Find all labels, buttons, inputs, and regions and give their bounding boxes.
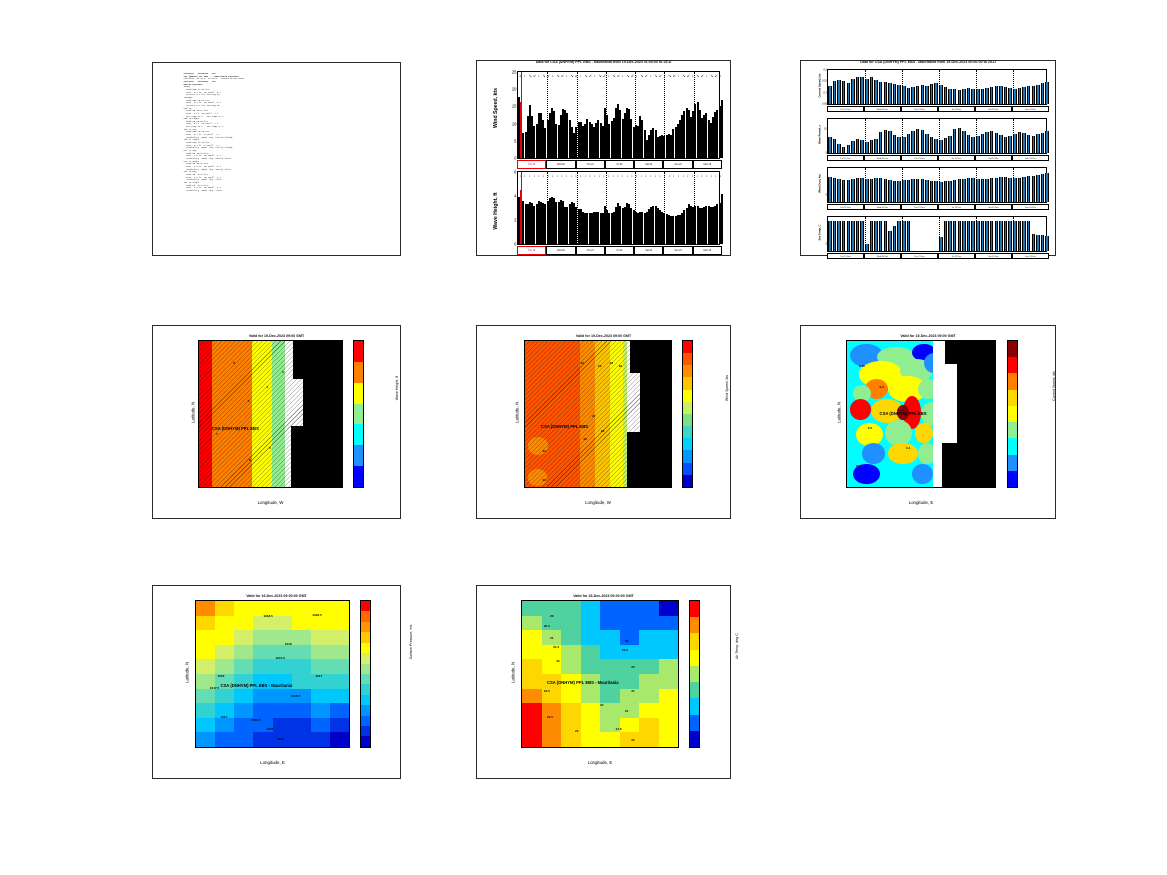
- pressure-cell: [292, 732, 312, 747]
- temp-cell: [522, 718, 542, 733]
- isotherm-label: 22: [631, 738, 634, 742]
- isobar-label: 1017.5: [210, 686, 219, 690]
- bar: [879, 132, 883, 153]
- bar: [1041, 235, 1045, 251]
- wind-direction-arrow: ↓: [677, 72, 679, 79]
- report-line: Visibility Good Sky Clear: [181, 190, 392, 193]
- wind-direction-arrow: ↓: [538, 72, 540, 79]
- wind-direction-arrow-row: ↙↓↘↙↓↘↙↓↘↙↓↘↙↓↘↙↓↘↙↓↘↙↓↘↙↓↘↙↓↘↙↓↘↙↓↘↙↓↘↙…: [518, 72, 719, 79]
- isotherm-label: 19.5: [622, 648, 628, 652]
- bar: [870, 140, 874, 153]
- temp-cell: [581, 659, 601, 674]
- temp-cell: [561, 703, 581, 718]
- temp-cell: [639, 630, 659, 645]
- pressure-cell: [292, 645, 312, 660]
- bar: [962, 221, 966, 251]
- wave-direction-arrow: ↓: [612, 172, 614, 179]
- temp-cell: [659, 601, 679, 616]
- temp-cell: [620, 616, 640, 631]
- wind-map-colorbar: 252423222120191817161514: [682, 340, 693, 488]
- day-gridline: [902, 70, 903, 104]
- bar: [999, 177, 1003, 202]
- bar: [1045, 82, 1049, 104]
- day-label: Fri 22 Dec: [938, 253, 975, 259]
- colorbar-segment: [354, 362, 363, 383]
- bar: [837, 221, 841, 251]
- pressure-cell: [330, 659, 350, 674]
- wave-direction-arrow: ↓: [673, 172, 675, 179]
- bar: [981, 221, 985, 251]
- temp-cell: [620, 601, 640, 616]
- pressure-cell: [330, 732, 350, 747]
- temp-cell: [581, 703, 601, 718]
- wind-direction-arrow: ↓: [719, 72, 721, 79]
- bar: [995, 86, 999, 104]
- colorbar-segment: [361, 622, 370, 632]
- wave-direction-arrow: ↓: [631, 172, 633, 179]
- bar: [971, 89, 975, 104]
- colorbar-segment: [690, 731, 699, 747]
- temp-cell: [620, 674, 640, 689]
- isotherm-label: 21.5: [553, 645, 559, 649]
- wave-map-ylabel: Latitude, N: [191, 383, 196, 443]
- day-label: Mon 25: [693, 160, 722, 169]
- current-map-xlabel: Longitude, E: [846, 500, 996, 505]
- wind-barb-hatching: [525, 341, 671, 487]
- temp-cell: [620, 703, 640, 718]
- wind-direction-arrow: ↙: [673, 72, 676, 79]
- y-tick-label: 25: [512, 70, 517, 75]
- temp-cell: [639, 645, 659, 660]
- wave-height-axes: 0246↓↓↓↓↓↓↓↓↓↓↓↓↓↓↓↓↓↓↓↓↓↓↓↓↓↓↓↓↓↓↓↓↓↓↓↓…: [517, 171, 720, 245]
- pressure-cell: [234, 616, 254, 631]
- temp-cell: [659, 616, 679, 631]
- contour-label: 0.3: [868, 426, 872, 430]
- pressure-cell: [330, 718, 350, 733]
- pressure-cell: [253, 645, 273, 660]
- bar: [934, 139, 938, 153]
- colorbar-segment: [690, 601, 699, 617]
- bar: [1004, 87, 1008, 104]
- bar: [1041, 83, 1045, 104]
- bar: [1004, 221, 1008, 251]
- bar: [828, 221, 832, 251]
- day-gridline: [1013, 217, 1014, 251]
- contour-label: 19: [618, 364, 621, 368]
- y-tick-label: 0.2: [823, 69, 827, 72]
- colorbar-segment: [683, 438, 692, 450]
- day-label: Fri 22 Dec: [938, 106, 975, 112]
- wind-direction-arrow: ↓: [566, 72, 568, 79]
- bar: [1032, 176, 1036, 202]
- day-label: Tue 19 Dec: [827, 253, 864, 259]
- wind-direction-arrow: ↙: [687, 72, 690, 79]
- bar: [1045, 131, 1049, 153]
- pressure-cell: [234, 630, 254, 645]
- bar: [958, 90, 962, 104]
- pressure-cell: [273, 616, 293, 631]
- day-gridline: [976, 217, 977, 251]
- bar: [1036, 235, 1040, 251]
- bar: [1036, 134, 1040, 153]
- temp-cell: [561, 645, 581, 660]
- temp-cell: [620, 659, 640, 674]
- wind-direction-arrow: ↓: [552, 72, 554, 79]
- wind-direction-arrow: ↙: [519, 72, 522, 79]
- wind-direction-arrow: ↙: [701, 72, 704, 79]
- bar: [842, 81, 846, 104]
- bar: [874, 221, 878, 251]
- colorbar-segment: [683, 414, 692, 426]
- pressure-map-title: Valid for 19-Dec-2023 09:00:00 GMT: [153, 594, 400, 598]
- bar: [1045, 173, 1049, 202]
- pressure-cell: [196, 689, 216, 704]
- contour-label: 20: [610, 361, 613, 365]
- pressure-cell: [273, 689, 293, 704]
- pressure-cell: [234, 645, 254, 660]
- y-tick-label: 0.15: [822, 80, 827, 83]
- wind-direction-arrow: ↓: [524, 72, 526, 79]
- bar: [967, 221, 971, 251]
- isotherm-label: 23: [575, 729, 578, 733]
- pressure-cell: [196, 645, 216, 660]
- bar: [967, 135, 971, 153]
- wave-direction-arrow: ↓: [677, 172, 679, 179]
- bar: [990, 178, 994, 202]
- temp-cell: [620, 718, 640, 733]
- colorbar-segment: [361, 726, 370, 736]
- wave-direction-arrow: ↓: [701, 172, 703, 179]
- bar: [851, 141, 855, 153]
- bar: [953, 221, 957, 251]
- wave-direction-arrow: ↓: [566, 172, 568, 179]
- y-tick-label: 5: [826, 243, 827, 246]
- contour-label: 0.1: [906, 446, 910, 450]
- temp-cell: [522, 630, 542, 645]
- bar: [874, 178, 878, 202]
- bar: [1027, 221, 1031, 251]
- day-label: Thu 21 Dec: [901, 204, 938, 210]
- bar: [1022, 221, 1026, 251]
- bar: [721, 100, 723, 158]
- bar: [884, 82, 888, 104]
- wave-direction-arrow: ↓: [542, 172, 544, 179]
- bar: [1032, 136, 1036, 153]
- wave-direction-arrow: ↓: [640, 172, 642, 179]
- isobar-label: 1017: [315, 674, 322, 678]
- pressure-cell: [311, 718, 331, 733]
- surface-pressure-map-panel: Valid for 19-Dec-2023 09:00:00 GMT 1018.…: [152, 585, 401, 779]
- bar: [990, 221, 994, 251]
- day-label: Tue 19 Dec: [827, 106, 864, 112]
- bar: [944, 138, 948, 153]
- isobar-label: 1016: [277, 737, 284, 741]
- bar: [907, 134, 911, 153]
- bar: [911, 87, 915, 104]
- isotherm-label: 22: [556, 659, 559, 663]
- temp-cell: [581, 601, 601, 616]
- contour-label: 0.05: [856, 464, 862, 468]
- multi-panel-title: Data for CSA (DNHYM) PPL EBS - Mauritani…: [801, 60, 1055, 64]
- bar: [721, 194, 723, 244]
- wave-direction-arrow: ↓: [584, 172, 586, 179]
- day-gridline: [577, 172, 578, 244]
- pressure-cell: [311, 689, 331, 704]
- wave-direction-arrow: ↓: [719, 172, 721, 179]
- bar: [948, 221, 952, 251]
- temp-cell: [639, 659, 659, 674]
- temp-cell: [522, 674, 542, 689]
- temp-cell: [639, 689, 659, 704]
- wave-direction-arrow: ↓: [594, 172, 596, 179]
- colorbar-segment: [690, 698, 699, 714]
- y-tick-label: 0.1: [823, 91, 827, 94]
- wind-direction-arrow: ↘: [584, 72, 587, 79]
- current-map-colorbar: 0.40.350.30.250.20.150.10.050: [1007, 340, 1018, 488]
- colorbar-segment: [354, 445, 363, 466]
- timeseries-title: Data for CSA (DNHYM) PPL EBS - Mauritani…: [477, 60, 730, 64]
- pressure-cell: [330, 674, 350, 689]
- wave-direction-arrow: ↓: [552, 172, 554, 179]
- y-tick-label: 5: [514, 138, 516, 143]
- forecast-report-text: ======== ======== === CSA (DNHYM) PPL EB…: [181, 73, 392, 249]
- bar: [953, 129, 957, 153]
- colorbar-segment: [361, 643, 370, 653]
- temp-cell: [561, 732, 581, 747]
- contour-label: 3: [282, 370, 284, 374]
- bar: [870, 179, 874, 202]
- pressure-cell: [311, 645, 331, 660]
- wind-direction-arrow: ↘: [528, 72, 531, 79]
- mini-axes-3: 5: [827, 216, 1047, 252]
- bar: [981, 134, 985, 153]
- day-gridline: [865, 119, 866, 153]
- colorbar-segment: [683, 402, 692, 414]
- wind-day-strip: Tue 19Wed 20Thu 21Fri 22Sat 23Sun 24Mon …: [517, 160, 720, 169]
- day-gridline: [1013, 119, 1014, 153]
- day-label: Sun 24 Dec: [1012, 253, 1049, 259]
- temp-cell: [600, 732, 620, 747]
- bar: [985, 88, 989, 104]
- wind-direction-arrow: ↙: [659, 72, 662, 79]
- temp-cell: [639, 703, 659, 718]
- bar: [1018, 88, 1022, 104]
- day-label: Tue 19 Dec: [827, 155, 864, 161]
- day-label: Fri 22: [605, 160, 634, 169]
- temp-cell: [620, 689, 640, 704]
- bar: [1018, 132, 1022, 153]
- colorbar-segment: [1008, 471, 1017, 487]
- wind-direction-arrow: ↓: [622, 72, 624, 79]
- bar: [985, 221, 989, 251]
- bar: [888, 180, 892, 202]
- wave-direction-arrow: ↓: [589, 172, 591, 179]
- site-label: CSA (DNHYM) PPL EBS: [212, 426, 259, 431]
- isotherm-label: 20.5: [544, 624, 550, 628]
- contour-label: 22: [583, 437, 586, 441]
- wave-direction-arrow: ↓: [580, 172, 582, 179]
- bar: [1004, 177, 1008, 202]
- colorbar-segment: [690, 617, 699, 633]
- temp-cell: [659, 659, 679, 674]
- bar: [995, 178, 999, 202]
- bar: [921, 130, 925, 153]
- temp-cell: [639, 732, 659, 747]
- temp-cell: [600, 718, 620, 733]
- bar: [1018, 221, 1022, 251]
- bar: [925, 86, 929, 104]
- bar: [893, 226, 897, 251]
- colorbar-segment: [361, 684, 370, 694]
- bar: [833, 221, 837, 251]
- bar: [1041, 174, 1045, 202]
- mini-ylabel-2: Wind Gust, kts: [819, 157, 822, 211]
- pressure-cell: [234, 689, 254, 704]
- temp-cell: [659, 674, 679, 689]
- temp-cell: [522, 659, 542, 674]
- wind-direction-arrow: ↙: [715, 72, 718, 79]
- pressure-cell: [330, 616, 350, 631]
- colorbar-segment: [361, 674, 370, 684]
- contour-label: 5: [269, 446, 271, 450]
- y-tick-label: 6: [514, 170, 516, 175]
- colorbar-segment: [1008, 373, 1017, 389]
- temp-cell: [581, 616, 601, 631]
- temp-cell: [659, 718, 679, 733]
- pressure-cell: [311, 703, 331, 718]
- pressure-cell: [196, 732, 216, 747]
- colorbar-segment: [1008, 455, 1017, 471]
- bar: [944, 87, 948, 104]
- bar: [842, 221, 846, 251]
- temp-cell: [600, 630, 620, 645]
- wave-colorbar-label: Wave Height, ft: [395, 358, 399, 418]
- y-tick-label: 2: [514, 218, 516, 223]
- site-label: CSA (DNHYM) PPL EBS - Mauritania: [547, 680, 619, 685]
- contour-label: 21: [598, 364, 601, 368]
- bar: [888, 131, 892, 153]
- wave-direction-arrow: ↓: [649, 172, 651, 179]
- wave-direction-arrow: ↓: [608, 172, 610, 179]
- bar: [856, 77, 860, 104]
- wind-direction-arrow: ↘: [612, 72, 615, 79]
- temp-cell: [581, 630, 601, 645]
- wave-direction-arrow: ↓: [682, 172, 684, 179]
- pressure-cell: [330, 601, 350, 616]
- land-mask: [957, 341, 995, 487]
- day-label: Fri 22 Dec: [938, 155, 975, 161]
- bar: [967, 178, 971, 202]
- bar: [1036, 85, 1040, 104]
- pressure-cell: [330, 645, 350, 660]
- airtemp-map-ylabel: Latitude, N: [511, 643, 516, 703]
- bar: [884, 221, 888, 251]
- colorbar-segment: [361, 695, 370, 705]
- temp-cell: [659, 732, 679, 747]
- pressure-cell: [311, 732, 331, 747]
- isotherm-label: 23.5: [547, 715, 553, 719]
- day-gridline: [664, 72, 665, 158]
- temp-cell: [659, 689, 679, 704]
- wind-direction-arrow: ↘: [682, 72, 685, 79]
- temp-cell: [600, 689, 620, 704]
- pressure-cell: [311, 659, 331, 674]
- wave-direction-arrow: ↓: [635, 172, 637, 179]
- site-label: CSA (DNHYM) PPL EBS - Mauritania: [220, 683, 292, 688]
- temp-cell: [542, 732, 562, 747]
- bar: [828, 86, 832, 104]
- day-label: Sat 23 Dec: [975, 204, 1012, 210]
- wind-map-ylabel: Latitude, N: [515, 383, 520, 443]
- pressure-cell: [215, 645, 235, 660]
- bar: [916, 179, 920, 202]
- bar: [911, 179, 915, 202]
- pressure-cell: [253, 689, 273, 704]
- current-speed-map-panel: Valid for 19-Dec-2023 09:00 GMT 0.150.20…: [800, 325, 1056, 519]
- pressure-cell: [292, 601, 312, 616]
- temp-cell: [522, 689, 542, 704]
- colorbar-segment: [683, 353, 692, 365]
- pressure-cell: [292, 718, 312, 733]
- pressure-cell: [215, 616, 235, 631]
- mini-axes-1: 510: [827, 118, 1047, 154]
- temp-cell: [522, 616, 542, 631]
- current-blob: [888, 443, 918, 463]
- wind-direction-arrow: ↙: [645, 72, 648, 79]
- day-gridline: [547, 72, 548, 158]
- pressure-cell: [253, 630, 273, 645]
- wind-direction-arrow: ↘: [556, 72, 559, 79]
- day-gridline: [902, 217, 903, 251]
- day-gridline: [694, 172, 695, 244]
- bar: [930, 137, 934, 153]
- colorbar-segment: [1008, 422, 1017, 438]
- day-label: Sun 24 Dec: [1012, 155, 1049, 161]
- bar: [860, 178, 864, 202]
- bar: [860, 77, 864, 104]
- bar: [971, 137, 975, 153]
- bar: [842, 180, 846, 202]
- colorbar-segment: [361, 716, 370, 726]
- day-gridline: [976, 70, 977, 104]
- wind-direction-arrow: ↓: [608, 72, 610, 79]
- bar: [888, 231, 892, 251]
- day-label: Wed 20 Dec: [864, 253, 901, 259]
- pressure-map-xlabel: Longitude, E: [195, 760, 350, 765]
- y-tick-label: 15: [512, 104, 517, 109]
- colorbar-segment: [690, 682, 699, 698]
- isobar-label: 1016.5: [291, 694, 300, 698]
- mini-ylabel-1: Wave Period, s: [819, 108, 822, 162]
- colorbar-segment: [354, 404, 363, 425]
- bar: [897, 181, 901, 202]
- day-label: Thu 21: [576, 160, 605, 169]
- bar: [897, 221, 901, 251]
- isobar-label: 1016: [266, 727, 273, 731]
- temp-cell: [581, 645, 601, 660]
- mini-ylabel-0: Current Speed, kts: [819, 59, 822, 113]
- mini-axes-2: 5: [827, 167, 1047, 203]
- wave-direction-arrow: ↓: [654, 172, 656, 179]
- pressure-cell: [330, 630, 350, 645]
- day-gridline: [606, 72, 607, 158]
- bar: [948, 136, 952, 153]
- day-gridline: [865, 70, 866, 104]
- wave-map-xlabel: Longitude, W: [198, 500, 343, 505]
- bar: [860, 140, 864, 153]
- bar: [916, 86, 920, 104]
- day-label: Thu 21 Dec: [901, 155, 938, 161]
